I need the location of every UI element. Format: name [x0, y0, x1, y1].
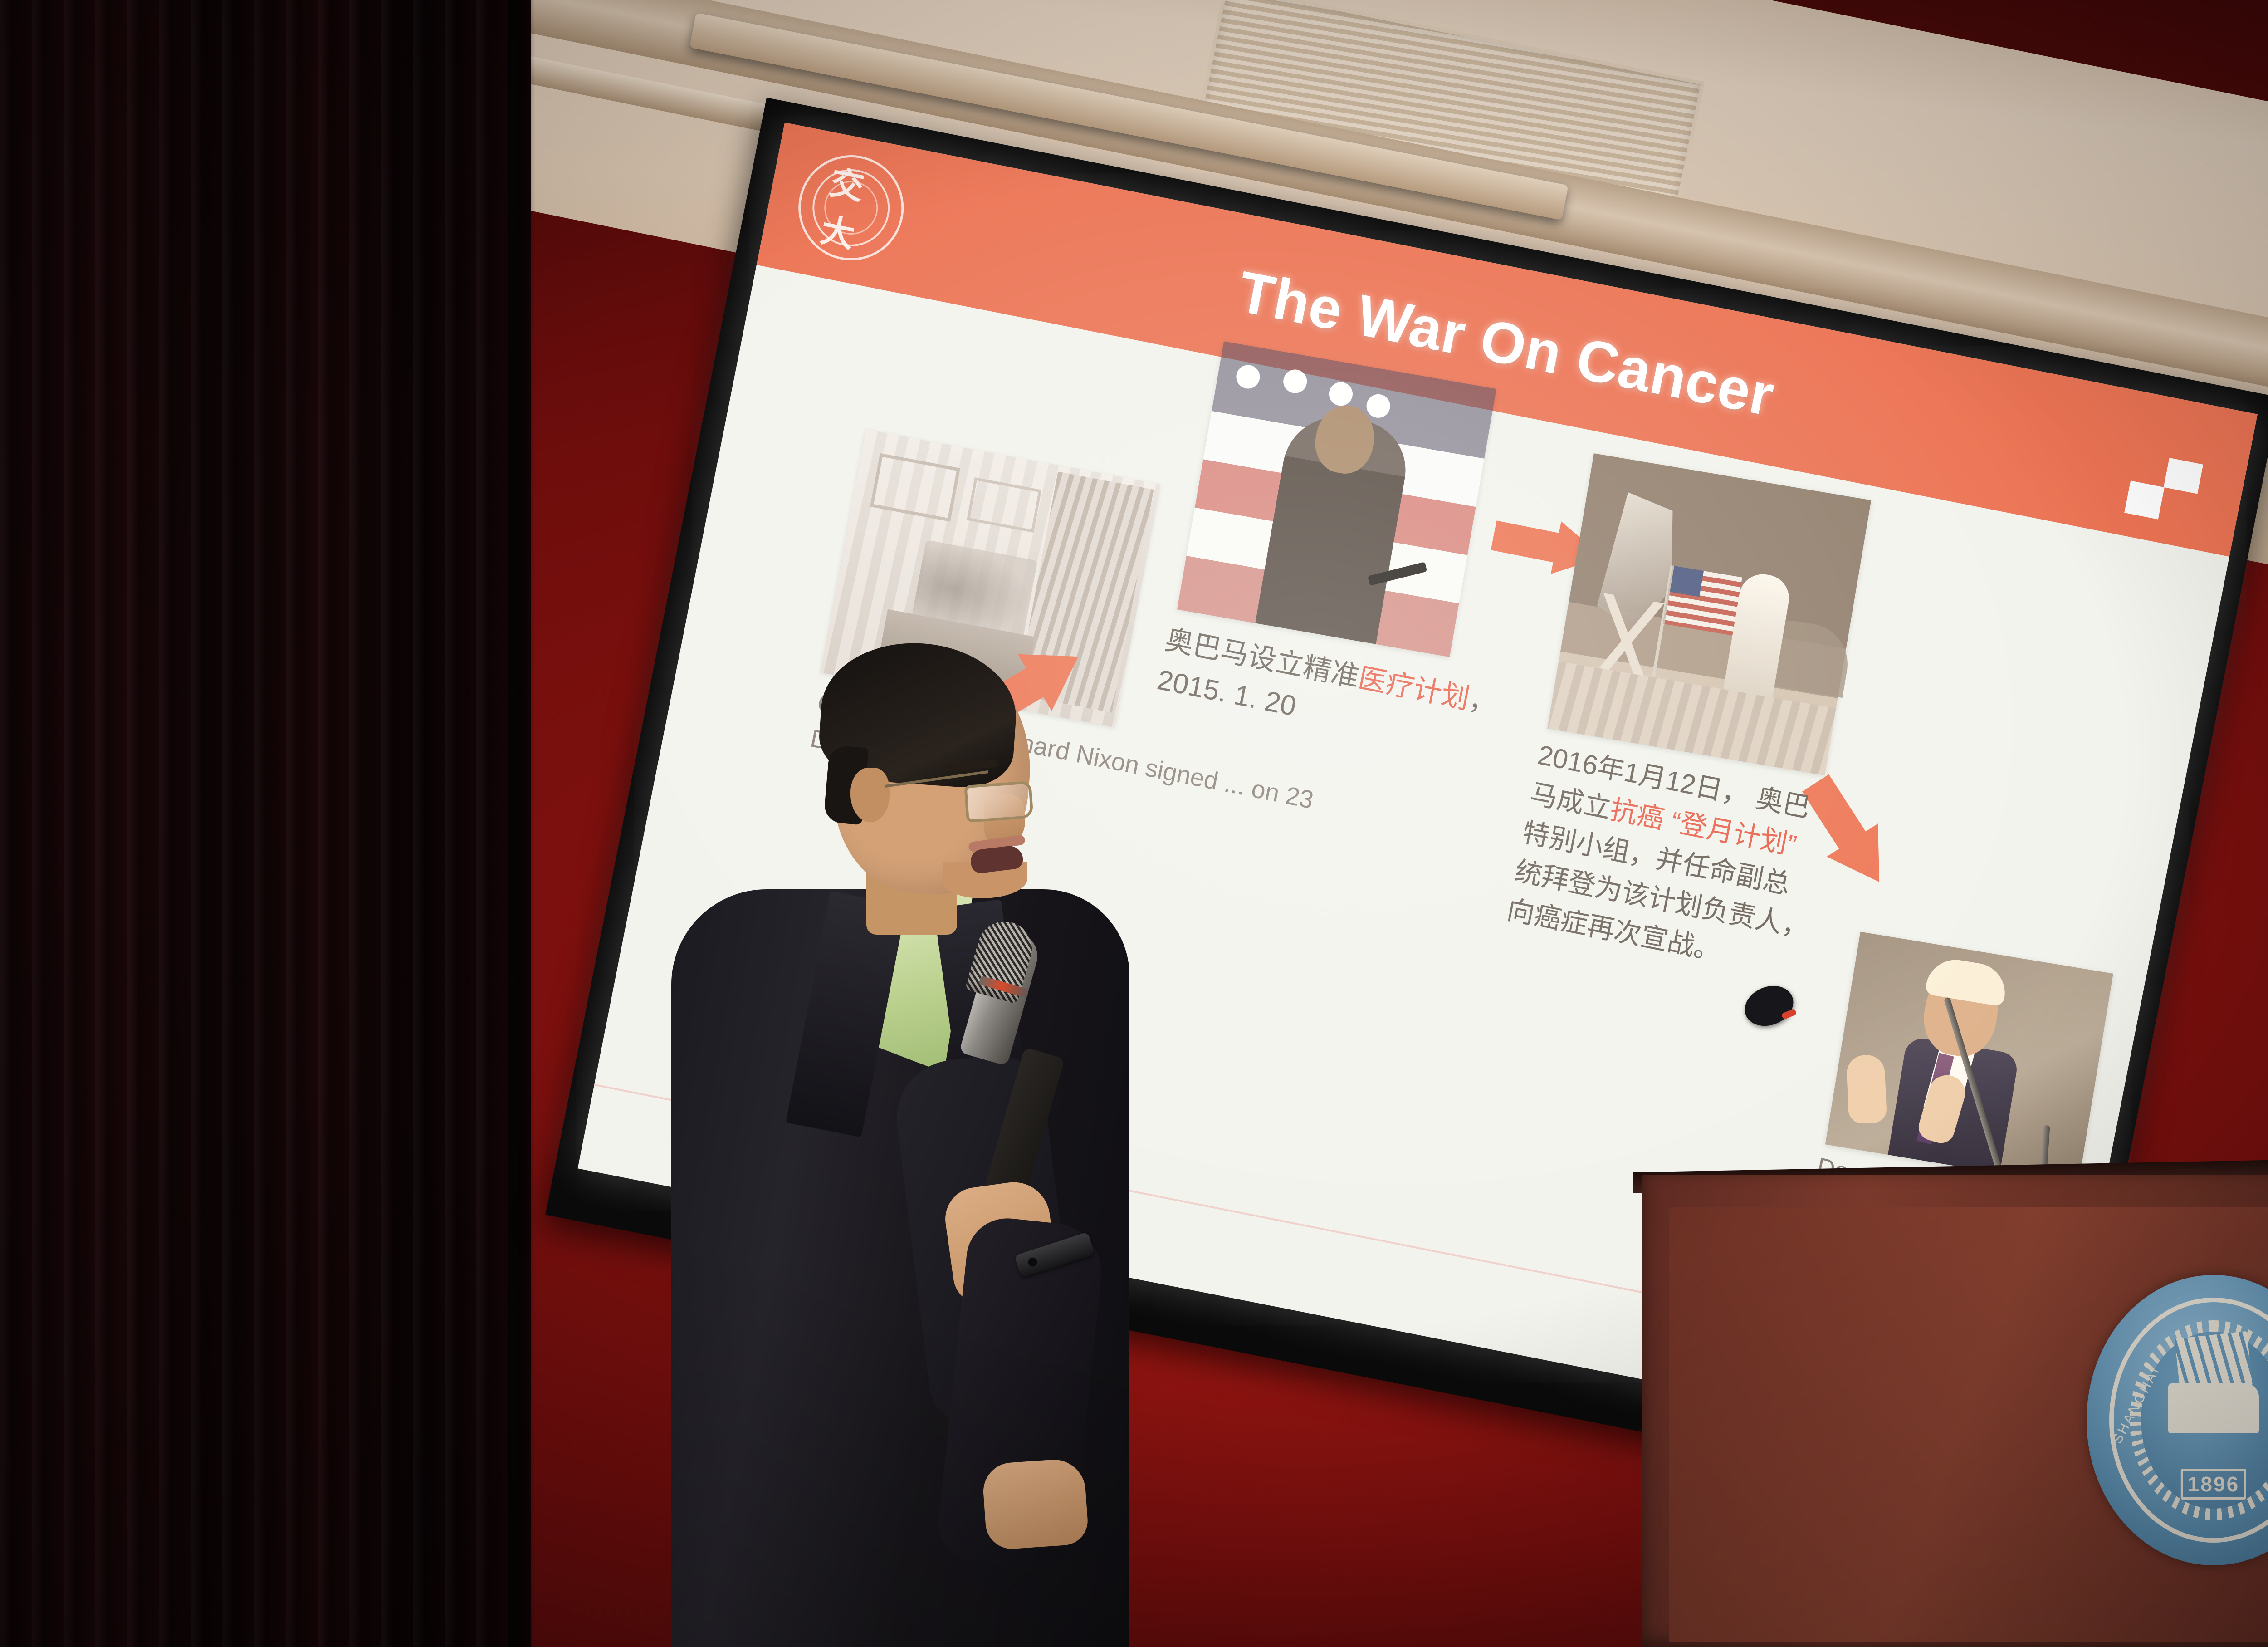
speaker-hand-holding-clicker	[982, 1457, 1090, 1550]
stage-curtain	[0, 0, 531, 1647]
speaker-ear	[850, 768, 890, 822]
emblem-year: 1896	[2181, 1469, 2246, 1500]
lectern-front-panel: 1896 SHANGHAI UNIVERSITY	[1669, 1207, 2268, 1642]
presentation-scene: 交大 The War On Cancer	[0, 0, 2268, 1647]
slide-corner-mark-icon	[2124, 451, 2203, 526]
apollo-moon-landing-photo	[1547, 453, 1871, 775]
caption-obama: 奥巴马设立精准医疗计划， 2015. 1. 20	[1154, 620, 1507, 767]
caption-moon-line2-pre: 马成立	[1528, 778, 1614, 824]
sjtu-podium-emblem-icon: 1896 SHANGHAI UNIVERSITY	[2087, 1275, 2268, 1565]
speaker	[671, 649, 1139, 1647]
curtain-edge-shadow	[508, 0, 535, 1647]
trump-speech-photo	[1825, 932, 2113, 1186]
eyeglasses-icon	[885, 770, 1030, 829]
obama-speech-photo	[1177, 341, 1496, 657]
curtain-folds	[0, 0, 531, 1647]
caption-obama-highlight: 医疗计划	[1356, 662, 1472, 715]
caption-moon: 2016年1月12日， 奥巴 马成立抗癌 “登月计划” 特别小组，并任命副总 统…	[1504, 735, 1853, 990]
caption-obama-line1-tail: ，	[1466, 684, 1500, 721]
